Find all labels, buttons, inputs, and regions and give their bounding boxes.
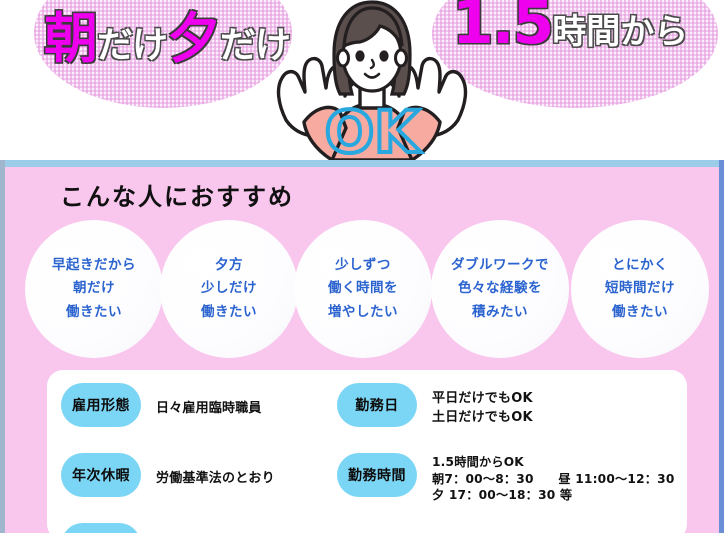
woman-illustration: OK <box>272 0 472 160</box>
circle-line: 色々な経験を <box>458 277 542 300</box>
hero-headline-left: 朝だけ夕だけ <box>44 0 290 73</box>
right-ear <box>396 50 407 66</box>
left-ear <box>338 50 349 66</box>
info-label: 年次休暇 <box>72 465 130 485</box>
info-value-line: 夕 17：00〜18：30 等 <box>432 487 675 504</box>
info-row-partial <box>47 518 687 533</box>
recommend-circle: 早起きだから 朝だけ 働きたい <box>25 220 163 358</box>
info-cell: 勤務日 平日だけでもOK 土日だけでもOK <box>337 378 687 440</box>
hero-sub-morning: だけ <box>97 25 167 66</box>
circle-line: 少しずつ <box>335 254 391 277</box>
panel-title: こんな人におすすめ <box>60 177 294 212</box>
hero-banner: 朝だけ夕だけ 1.5時間から <box>0 0 724 160</box>
circle-line: 朝だけ <box>73 277 115 300</box>
left-eye <box>355 50 364 61</box>
circle-line: 積みたい <box>472 301 528 324</box>
info-value: 日々雇用臨時職員 <box>156 378 262 440</box>
recommend-circle: 夕方 少しだけ 働きたい <box>160 220 298 358</box>
recommend-circle: ダブルワークで 色々な経験を 積みたい <box>431 220 569 358</box>
circle-line: 働きたい <box>612 301 668 324</box>
circle-line: 働く時間を <box>328 277 398 300</box>
recommend-circle-list: 早起きだから 朝だけ 働きたい 夕方 少しだけ 働きたい 少しずつ 働く時間を … <box>5 220 724 365</box>
hero-keyword-morning: 朝 <box>44 7 97 70</box>
circle-line: 早起きだから <box>52 254 136 277</box>
hero-headline-right: 1.5時間から <box>452 0 688 58</box>
info-label: 勤務時間 <box>348 465 406 485</box>
info-row: 年次休暇 労働基準法のとおり 勤務時間 1.5時間からOK 朝7：00〜8：30… <box>47 448 687 510</box>
info-value-line: 平日だけでもOK <box>432 390 533 409</box>
circle-line: 働きたい <box>201 301 257 324</box>
info-cell: 雇用形態 日々雇用臨時職員 <box>61 378 361 440</box>
info-label-pill: 雇用形態 <box>61 383 141 427</box>
info-value-line: 労働基準法のとおり <box>156 470 275 489</box>
info-value: 平日だけでもOK 土日だけでもOK <box>432 378 533 440</box>
circle-line: ダブルワークで <box>451 254 549 277</box>
ok-label: OK <box>325 98 421 160</box>
info-value-line: 土日だけでもOK <box>432 409 533 428</box>
right-eye <box>379 50 388 61</box>
info-label-pill <box>61 523 141 533</box>
info-cell: 勤務時間 1.5時間からOK 朝7：00〜8：30 昼 11:00〜12：30 … <box>337 448 687 510</box>
flyer-root: 朝だけ夕だけ 1.5時間から <box>0 0 724 533</box>
info-row: 雇用形態 日々雇用臨時職員 勤務日 平日だけでもOK 土日だけでもOK <box>47 378 687 440</box>
info-cell: 年次休暇 労働基準法のとおり <box>61 448 361 510</box>
recommend-circle: 少しずつ 働く時間を 増やしたい <box>294 220 432 358</box>
recommend-panel: こんな人におすすめ 早起きだから 朝だけ 働きたい 夕方 少しだけ 働きたい 少… <box>0 160 724 533</box>
circle-line: とにかく <box>612 254 668 277</box>
info-value-line: 1.5時間からOK <box>432 454 675 471</box>
info-value: 1.5時間からOK 朝7：00〜8：30 昼 11:00〜12：30 夕 17：… <box>432 448 675 510</box>
info-label-pill: 勤務時間 <box>337 453 417 497</box>
info-label-pill: 年次休暇 <box>61 453 141 497</box>
circle-line: 増やしたい <box>328 301 398 324</box>
hero-sub-hours: 時間から <box>552 12 688 52</box>
info-label-pill: 勤務日 <box>337 383 417 427</box>
circle-line: 働きたい <box>66 301 122 324</box>
info-label: 勤務日 <box>355 395 399 415</box>
recommend-circle: とにかく 短時間だけ 働きたい <box>571 220 709 358</box>
panel-top-bar <box>5 160 719 167</box>
circle-line: 短時間だけ <box>605 277 675 300</box>
info-value-line: 朝7：00〜8：30 昼 11:00〜12：30 <box>432 471 675 488</box>
info-value-line: 日々雇用臨時職員 <box>156 400 262 419</box>
circle-line: 少しだけ <box>201 277 257 300</box>
info-label: 雇用形態 <box>72 395 130 415</box>
info-cell <box>61 518 361 533</box>
hero-keyword-evening: 夕 <box>167 7 220 70</box>
job-info-card: 雇用形態 日々雇用臨時職員 勤務日 平日だけでもOK 土日だけでもOK <box>47 370 687 533</box>
circle-line: 夕方 <box>215 254 243 277</box>
info-value: 労働基準法のとおり <box>156 448 275 510</box>
